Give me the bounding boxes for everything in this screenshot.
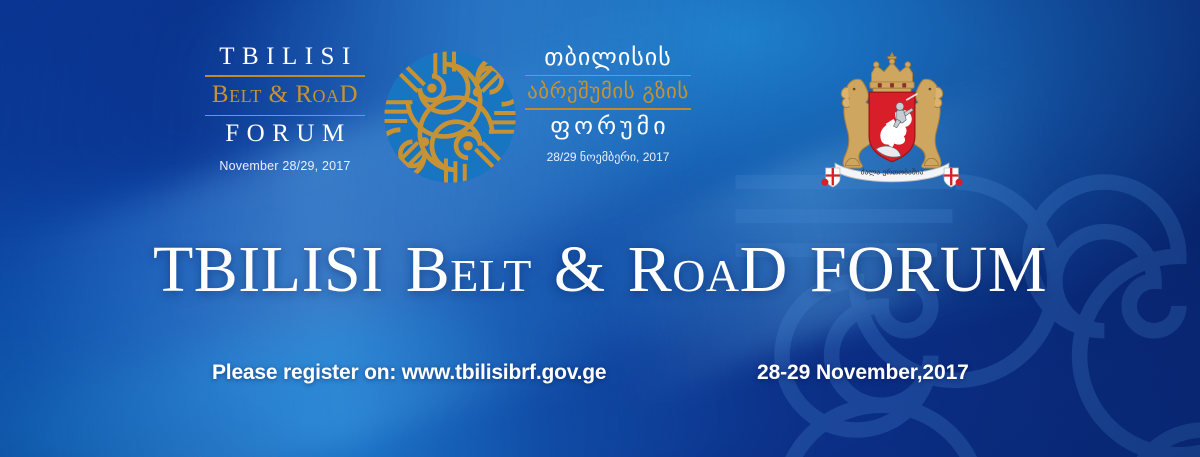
title-word-road: RoaD: [628, 233, 788, 306]
logo-georgian: თბილისის აბრეშუმის გზის ფორუმი 28/29 ნოე…: [525, 44, 691, 164]
title-word-tbilisi: TBILISI: [153, 233, 384, 306]
logo-en-line2: Belt & RoaD: [205, 81, 365, 110]
logo-en-rule-bottom: [205, 115, 365, 117]
tbilisi-belt-and-road-forum-banner: TBILISI Belt & RoaD FORUM November 28/29…: [0, 0, 1200, 457]
logo-ka-date: 28/29 ნოემბერი, 2017: [525, 150, 691, 164]
logo-en-date: November 28/29, 2017: [205, 159, 365, 173]
title-word-belt: Belt: [406, 233, 532, 306]
event-dates-text: 28-29 November,2017: [757, 361, 969, 385]
georgia-coat-of-arms-icon: ძალა ერთობაშია: [812, 48, 972, 198]
silk-road-spiral-emblem-icon: [383, 50, 517, 184]
logo-en-line1: TBILISI: [205, 44, 365, 70]
logo-ka-rule-top: [525, 75, 691, 77]
title-ampersand: &: [554, 233, 606, 306]
logo-english: TBILISI Belt & RoaD FORUM November 28/29…: [205, 44, 365, 173]
logo-ka-rule-bottom: [525, 108, 691, 110]
header-lockup: TBILISI Belt & RoaD FORUM November 28/29…: [0, 24, 1200, 179]
coat-of-arms-motto: ძალა ერთობაშია: [861, 167, 924, 176]
page-title: TBILISIBelt&RoaDFORUM: [0, 232, 1200, 308]
register-url-text[interactable]: Please register on: www.tbilisibrf.gov.g…: [212, 361, 606, 385]
logo-ka-line3: ფორუმი: [525, 113, 691, 140]
title-word-forum: FORUM: [810, 233, 1047, 306]
logo-en-line3: FORUM: [205, 120, 365, 148]
logo-ka-line2: აბრეშუმის გზის: [525, 79, 691, 104]
logo-ka-line1: თბილისის: [525, 44, 691, 71]
logo-en-rule-top: [205, 75, 365, 77]
background-light-sweep-bottom: [0, 190, 953, 457]
